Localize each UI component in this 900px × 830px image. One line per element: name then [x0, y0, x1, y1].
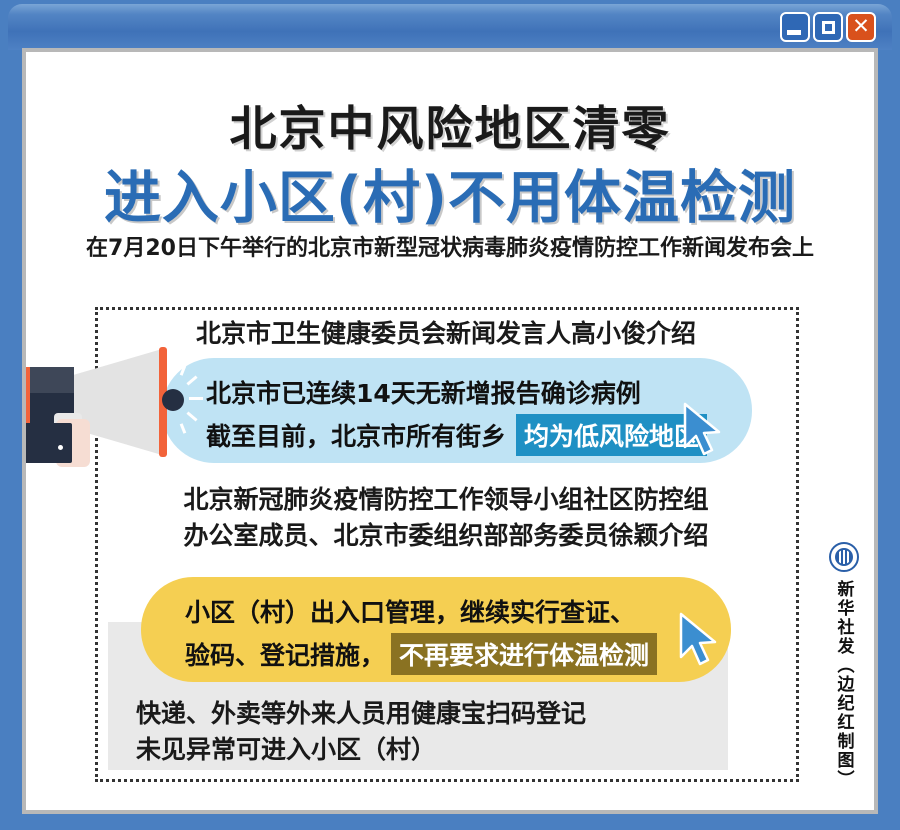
headline-secondary: 进入小区(村)不用体温检测	[26, 152, 874, 234]
section2-quote-line1: 小区（村）出入口管理，继续实行查证、	[185, 593, 635, 629]
section2-tail-line2: 未见异常可进入小区（村）	[136, 732, 696, 768]
minimize-button[interactable]	[780, 12, 810, 42]
section2-speaker: 北京新冠肺炎疫情防控工作领导小组社区防控组 办公室成员、北京市委组织部部务委员徐…	[126, 482, 766, 553]
section2-tail-text: 快递、外卖等外来人员用健康宝扫码登记 未见异常可进入小区（村）	[136, 696, 696, 769]
close-icon: ✕	[852, 16, 870, 37]
window-controls: ✕	[780, 12, 876, 42]
megaphone-speaker-dot	[162, 389, 184, 411]
headline-lead: 在7月20日下午举行的北京市新型冠状病毒肺炎疫情防控工作新闻发布会上	[26, 230, 874, 262]
minimize-icon	[787, 30, 801, 35]
infographic-page: 北京中风险地区清零 进入小区(村)不用体温检测 在7月20日下午举行的北京市新型…	[26, 52, 874, 810]
section2-quote-line2: 验码、登记措施， 不再要求进行体温检测	[185, 633, 657, 675]
megaphone-spark-5	[180, 423, 187, 433]
megaphone-spark-2	[189, 397, 203, 400]
section1-quote-line2: 截至目前，北京市所有街乡 均为低风险地区	[206, 414, 707, 456]
mouse-cursor-icon-2	[676, 612, 722, 668]
megaphone-spark-4	[180, 365, 187, 375]
maximize-button[interactable]	[813, 12, 843, 42]
xinhua-logo-inner	[835, 548, 853, 566]
section1-quote-line2-text: 截至目前，北京市所有街乡	[206, 417, 506, 453]
mouse-cursor-icon-1	[680, 402, 726, 458]
megaphone-cuff-dot	[58, 445, 63, 450]
megaphone-arm	[26, 423, 72, 463]
window-titlebar[interactable]: ✕	[8, 4, 892, 50]
section1-highlight-badge: 均为低风险地区	[516, 414, 707, 456]
section1-quote-line1: 北京市已连续14天无新增报告确诊病例	[206, 374, 641, 410]
megaphone-spark-1	[186, 375, 197, 385]
megaphone-spark-3	[186, 411, 197, 421]
section1-speaker: 北京市卫生健康委员会新闻发言人高小俊介绍	[166, 314, 726, 350]
megaphone-body-top	[30, 367, 74, 395]
section2-speaker-line1: 北京新冠肺炎疫情防控工作领导小组社区防控组	[126, 482, 766, 518]
application-window: ✕ 北京中风险地区清零 进入小区(村)不用体温检测 在7月20日下午举行的北京市…	[0, 0, 900, 830]
section2-highlight-badge: 不再要求进行体温检测	[391, 633, 657, 675]
section2-quote-bubble: 小区（村）出入口管理，继续实行查证、 验码、登记措施， 不再要求进行体温检测	[141, 577, 731, 682]
close-button[interactable]: ✕	[846, 12, 876, 42]
megaphone-icon	[26, 347, 201, 472]
section2-quote-line2-text: 验码、登记措施，	[185, 636, 385, 672]
xinhua-logo-icon	[829, 542, 859, 572]
maximize-icon	[822, 21, 835, 34]
headline-primary: 北京中风险地区清零	[26, 90, 874, 159]
section2-tail-line1: 快递、外卖等外来人员用健康宝扫码登记	[136, 696, 696, 732]
section1-quote-bubble: 北京市已连续14天无新增报告确诊病例 截至目前，北京市所有街乡 均为低风险地区	[162, 358, 752, 463]
section2-speaker-line2: 办公室成员、北京市委组织部部务委员徐颖介绍	[126, 518, 766, 554]
credit-strip: 新华社发（边纪红制图）	[824, 542, 864, 789]
credit-text: 新华社发（边纪红制图）	[832, 580, 857, 789]
